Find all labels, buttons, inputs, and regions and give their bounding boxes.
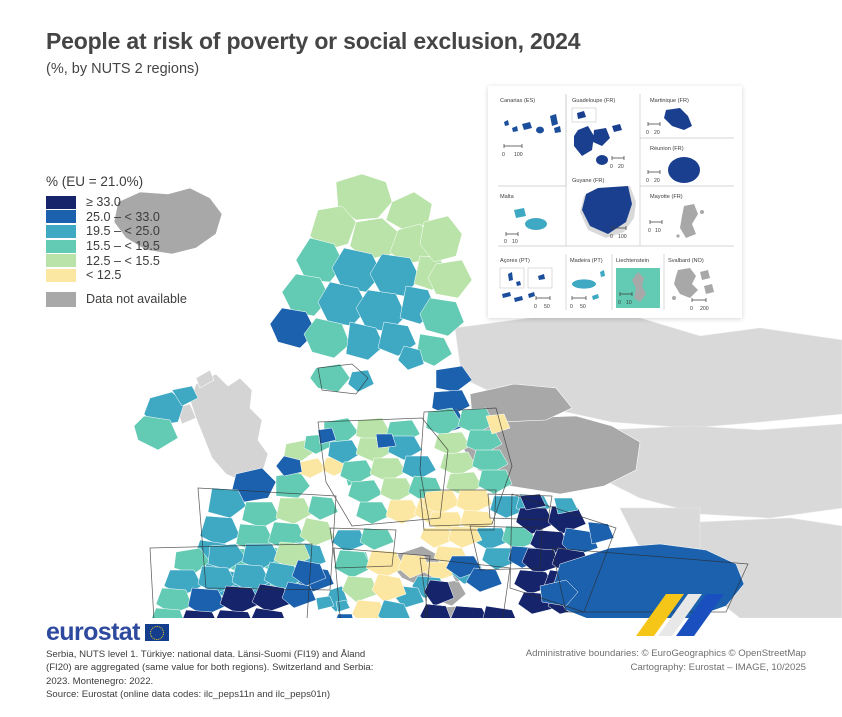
inset-label: Madeira (PT) [570,258,603,264]
note-line: 2023. Montenegro: 2022. [46,675,376,688]
legend-label: 19.5 – < 25.0 [86,224,160,238]
inset-scale-from: 0 [648,228,651,234]
inset-scale-to: 10 [626,300,632,306]
legend-swatch [46,196,76,209]
legend-label: 12.5 – < 15.5 [86,254,160,268]
legend-label: < 12.5 [86,268,121,282]
inset-label: Liechtenstein [616,258,649,264]
legend-label: 15.5 – < 19.5 [86,239,160,253]
page-title: People at risk of poverty or social excl… [46,28,580,55]
legend-label: Data not available [86,292,187,306]
inset-label: Malta [500,194,515,200]
inset-scale-to: 20 [654,130,660,136]
legend-item[interactable]: 19.5 – < 25.0 [46,224,187,239]
inset-scale-to: 10 [512,239,518,245]
region-nordics [270,174,472,434]
legend-swatch [46,240,76,253]
inset-label: Réunion (FR) [650,146,684,152]
map-legend: % (EU = 21.0%) ≥ 33.0 25.0 – < 33.0 19.5… [46,174,187,308]
inset-label: Açores (PT) [500,258,530,264]
image-chevron-logo [636,588,756,636]
legend-swatch [46,210,76,223]
inset-scale-to: 10 [655,228,661,234]
eurostat-wordmark: eurostat [46,620,140,645]
legend-label: 25.0 – < 33.0 [86,210,160,224]
legend-item[interactable]: 25.0 – < 33.0 [46,210,187,225]
inset-scale-from: 0 [646,130,649,136]
eu-flag-icon [145,624,169,641]
legend-item[interactable]: 15.5 – < 19.5 [46,239,187,254]
inset-scale-to: 50 [580,304,586,310]
inset-scale-from: 0 [570,304,573,310]
inset-svg: Canarias (ES) 0 100 Guadeloupe (FR) [488,86,742,318]
eurostat-logo: eurostat [46,620,169,645]
inset-shape [668,157,700,183]
inset-label: Canarias (ES) [500,98,535,104]
inset-scale-from: 0 [690,306,693,312]
legend-swatch [46,292,76,307]
inset-label: Mayotte (FR) [650,194,683,200]
legend-swatch [46,225,76,238]
note-line: Source: Eurostat (online data codes: ilc… [46,688,376,701]
inset-scale-from: 0 [534,304,537,310]
inset-scale-to: 20 [654,178,660,184]
legend-item[interactable]: < 12.5 [46,268,187,283]
note-line: Serbia, NUTS level 1. Türkiye: national … [46,648,376,661]
legend-item-no-data[interactable]: Data not available [46,291,187,308]
inset-label: Martinique (FR) [650,98,689,104]
inset-label: Guyane (FR) [572,178,604,184]
inset-scale-from: 0 [610,234,613,240]
legend-item[interactable]: 12.5 – < 15.5 [46,253,187,268]
inset-scale-to: 50 [544,304,550,310]
note-line: (FI20) are aggregated (same value for bo… [46,661,376,674]
inset-panel[interactable]: Canarias (ES) 0 100 Guadeloupe (FR) [488,86,742,318]
credit-line: Administrative boundaries: © EuroGeograp… [526,647,806,661]
legend-item[interactable]: ≥ 33.0 [46,195,187,210]
inset-scale-from: 0 [610,164,613,170]
credit-line: Cartography: Eurostat – IMAGE, 10/2025 [526,661,806,675]
inset-scale-to: 20 [618,164,624,170]
page-subtitle: (%, by NUTS 2 regions) [46,61,199,77]
map-credits: Administrative boundaries: © EuroGeograp… [526,647,806,675]
inset-scale-from: 0 [502,152,505,158]
inset-scale-to: 100 [618,234,627,240]
legend-title: % (EU = 21.0%) [46,174,187,189]
inset-scale-from: 0 [646,178,649,184]
inset-scale-from: 0 [504,239,507,245]
inset-label: Svalbard (NO) [668,258,704,264]
inset-scale-from: 0 [618,300,621,306]
inset-scale-to: 100 [514,152,523,158]
legend-swatch [46,269,76,282]
inset-label: Guadeloupe (FR) [572,98,615,104]
legend-label: ≥ 33.0 [86,195,121,209]
inset-scale-to: 200 [700,306,709,312]
map-notes: Serbia, NUTS level 1. Türkiye: national … [46,648,376,702]
legend-swatch [46,254,76,267]
